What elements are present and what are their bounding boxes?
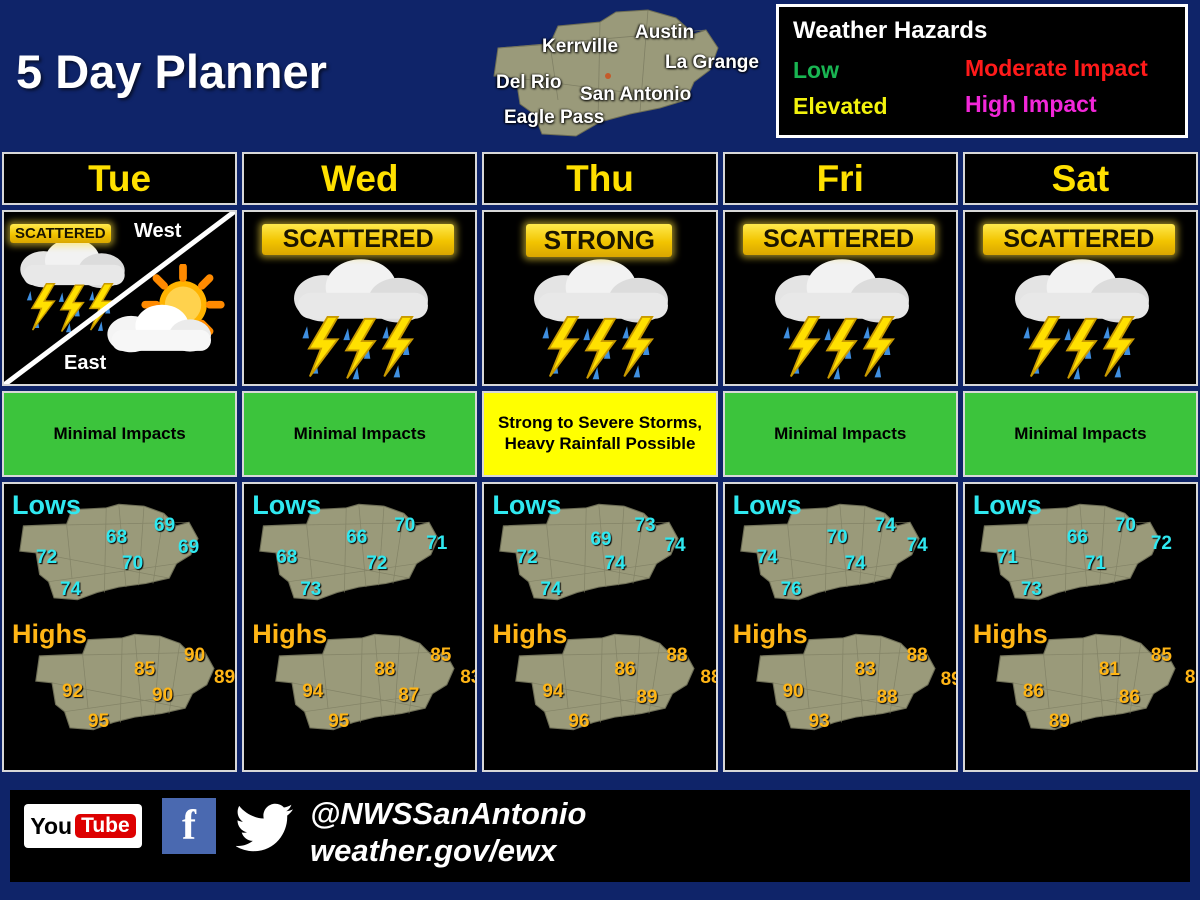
high-temp-value: 85 xyxy=(134,660,155,679)
low-temp-value: 73 xyxy=(634,516,655,535)
temperature-cell-sat: Lows Highs 716670727173 868185868689 xyxy=(963,482,1198,772)
forecast-column-wed: Wed SCATTEREDMinimal Impacts xyxy=(242,152,477,772)
header-region-map: Austin Kerrville La Grange Del Rio San A… xyxy=(480,4,760,144)
facebook-f-glyph: f xyxy=(182,805,196,847)
low-temp-value: 74 xyxy=(875,516,896,535)
low-temp-value: 72 xyxy=(36,548,57,567)
high-temp-value: 95 xyxy=(328,712,349,731)
thunderstorm-art xyxy=(508,246,694,386)
high-temp-value: 85 xyxy=(430,646,451,665)
high-temp-value: 90 xyxy=(783,682,804,701)
weather-icon-cell-fri: SCATTERED xyxy=(723,210,958,386)
high-temp-value: 87 xyxy=(398,686,419,705)
low-temp-value: 68 xyxy=(106,528,127,547)
condition-banner: SCATTERED xyxy=(743,224,935,255)
high-temp-value: 89 xyxy=(636,688,657,707)
west-condition-banner: SCATTERED xyxy=(10,224,111,243)
impact-text: Minimal Impacts xyxy=(1014,424,1146,445)
impact-text: Minimal Impacts xyxy=(294,424,426,445)
high-temp-value: 81 xyxy=(1099,660,1120,679)
high-temp-value: 89 xyxy=(214,668,235,687)
low-temp-value: 76 xyxy=(781,580,802,599)
high-temp-value: 89 xyxy=(1049,712,1070,731)
low-temp-value: 74 xyxy=(540,580,561,599)
weather-icon-cell-tue: SCATTERED West East xyxy=(2,210,237,386)
high-temp-value: 88 xyxy=(907,646,928,665)
day-name-label: Fri xyxy=(817,160,864,197)
lows-values-layer: 686670717273 xyxy=(258,502,458,612)
weather-icon-cell-wed: SCATTERED xyxy=(242,210,477,386)
condition-banner: STRONG xyxy=(526,224,672,257)
high-temp-value: 93 xyxy=(809,712,830,731)
high-temp-value: 94 xyxy=(542,682,563,701)
east-partly-sunny-art xyxy=(92,264,232,377)
city-label-eagle-pass: Eagle Pass xyxy=(504,107,604,129)
low-temp-value: 73 xyxy=(300,580,321,599)
day-header-sat: Sat xyxy=(963,152,1198,205)
twitter-bird-icon[interactable] xyxy=(236,802,294,852)
forecast-column-fri: Fri SCATTEREDMinimal Impacts xyxy=(723,152,958,772)
high-temp-value: 90 xyxy=(184,646,205,665)
high-temp-value: 96 xyxy=(568,712,589,731)
city-label-austin: Austin xyxy=(635,22,694,44)
impact-text: Strong to Severe Storms, Heavy Rainfall … xyxy=(490,413,709,454)
youtube-you-text: You xyxy=(30,815,72,838)
high-temp-value: 86 xyxy=(1119,688,1140,707)
forecast-column-thu: Thu STRONGStrong to Severe Storms, Heavy… xyxy=(482,152,717,772)
city-label-kerrville: Kerrville xyxy=(542,36,618,58)
low-temp-value: 71 xyxy=(997,548,1018,567)
low-temp-value: 69 xyxy=(590,530,611,549)
high-temp-value: 89 xyxy=(941,670,958,689)
east-label: East xyxy=(64,352,106,375)
low-temp-value: 71 xyxy=(426,534,447,553)
low-temp-value: 73 xyxy=(1021,580,1042,599)
high-temp-value: 94 xyxy=(302,682,323,701)
west-label: West xyxy=(134,220,181,243)
five-day-forecast-grid: Tue SCATTERED xyxy=(0,152,1200,772)
low-temp-value: 70 xyxy=(122,554,143,573)
social-handle-block: @NWSSanAntonio weather.gov/ewx xyxy=(310,796,586,869)
low-temp-value: 74 xyxy=(664,536,685,555)
partly-sunny-icon xyxy=(92,264,232,372)
day-header-wed: Wed xyxy=(242,152,477,205)
impact-cell-thu: Strong to Severe Storms, Heavy Rainfall … xyxy=(482,391,717,477)
low-temp-value: 74 xyxy=(757,548,778,567)
website-url: weather.gov/ewx xyxy=(310,833,586,870)
day-header-thu: Thu xyxy=(482,152,717,205)
high-temp-value: 88 xyxy=(877,688,898,707)
hazard-level-moderate-impact: Moderate Impact xyxy=(965,55,1148,82)
low-temp-value: 70 xyxy=(1115,516,1136,535)
impact-cell-tue: Minimal Impacts xyxy=(2,391,237,477)
temperature-cell-tue: Lows Highs 726869697074 928590899095 xyxy=(2,482,237,772)
impact-cell-sat: Minimal Impacts xyxy=(963,391,1198,477)
low-temp-value: 74 xyxy=(604,554,625,573)
low-temp-value: 74 xyxy=(907,536,928,555)
low-temp-value: 74 xyxy=(845,554,866,573)
temperature-cell-thu: Lows Highs 726973747474 948688888996 xyxy=(482,482,717,772)
youtube-icon[interactable]: You Tube xyxy=(24,804,142,848)
lows-values-layer: 726973747474 xyxy=(498,502,698,612)
temperature-cell-wed: Lows Highs 686670717273 948885838795 xyxy=(242,482,477,772)
hazard-level-elevated: Elevated xyxy=(793,93,888,120)
hazards-legend-title: Weather Hazards xyxy=(793,17,987,45)
low-temp-value: 68 xyxy=(276,548,297,567)
high-temp-value: 95 xyxy=(88,712,109,731)
high-temp-value: 86 xyxy=(614,660,635,679)
low-temp-value: 69 xyxy=(154,516,175,535)
high-temp-value: 92 xyxy=(62,682,83,701)
low-temp-value: 69 xyxy=(178,538,199,557)
low-temp-value: 72 xyxy=(516,548,537,567)
twitter-handle: @NWSSanAntonio xyxy=(310,796,586,833)
weather-hazards-legend: Weather Hazards Low Moderate Impact Elev… xyxy=(776,4,1188,138)
highs-values-layer: 908388898893 xyxy=(755,632,955,742)
day-header-fri: Fri xyxy=(723,152,958,205)
thunderstorm-icon xyxy=(508,246,694,386)
footer-banner: You Tube f @NWSSanAntonio weather.gov/ew… xyxy=(0,772,1200,900)
condition-banner: SCATTERED xyxy=(983,224,1175,255)
high-temp-value: 88 xyxy=(666,646,687,665)
twitter-bird-glyph xyxy=(236,802,294,852)
thunderstorm-icon xyxy=(989,246,1175,386)
highs-values-layer: 948885838795 xyxy=(274,632,474,742)
weather-icon-cell-thu: STRONG xyxy=(482,210,717,386)
low-temp-value: 66 xyxy=(1067,528,1088,547)
impact-text: Minimal Impacts xyxy=(53,424,185,445)
hazard-level-low: Low xyxy=(793,57,839,84)
condition-banner: SCATTERED xyxy=(262,224,454,255)
facebook-icon[interactable]: f xyxy=(162,798,216,854)
temperature-cell-fri: Lows Highs 747074747476 908388898893 xyxy=(723,482,958,772)
high-temp-value: 86 xyxy=(1185,668,1198,687)
thunderstorm-art xyxy=(268,246,454,386)
city-label-san-antonio: San Antonio xyxy=(580,84,691,106)
day-name-label: Tue xyxy=(88,160,151,197)
highs-values-layer: 868185868689 xyxy=(995,632,1195,742)
low-temp-value: 66 xyxy=(346,528,367,547)
high-temp-value: 88 xyxy=(700,668,717,687)
city-label-del-rio: Del Rio xyxy=(496,72,561,94)
low-temp-value: 74 xyxy=(60,580,81,599)
social-media-bar: You Tube f @NWSSanAntonio weather.gov/ew… xyxy=(10,790,1190,882)
impact-cell-fri: Minimal Impacts xyxy=(723,391,958,477)
thunderstorm-art xyxy=(989,246,1175,386)
day-name-label: Wed xyxy=(321,160,398,197)
low-temp-value: 72 xyxy=(1151,534,1172,553)
forecast-column-sat: Sat SCATTEREDMinimal Impacts xyxy=(963,152,1198,772)
highs-values-layer: 948688888996 xyxy=(514,632,714,742)
high-temp-value: 86 xyxy=(1023,682,1044,701)
thunderstorm-art xyxy=(749,246,935,386)
youtube-tube-text: Tube xyxy=(75,814,136,838)
highs-values-layer: 928590899095 xyxy=(34,632,234,742)
weather-icon-cell-sat: SCATTERED xyxy=(963,210,1198,386)
high-temp-value: 88 xyxy=(374,660,395,679)
low-temp-value: 72 xyxy=(366,554,387,573)
lows-values-layer: 747074747476 xyxy=(739,502,939,612)
page-title: 5 Day Planner xyxy=(16,44,327,99)
high-temp-value: 85 xyxy=(1151,646,1172,665)
high-temp-value: 83 xyxy=(460,668,477,687)
thunderstorm-icon xyxy=(749,246,935,386)
thunderstorm-icon xyxy=(268,246,454,386)
day-header-tue: Tue xyxy=(2,152,237,205)
hazard-level-high-impact: High Impact xyxy=(965,91,1097,118)
high-temp-value: 90 xyxy=(152,686,173,705)
city-label-la-grange: La Grange xyxy=(665,52,759,74)
day-name-label: Sat xyxy=(1052,160,1110,197)
header-banner: 5 Day Planner Austin Kerrville La Grange… xyxy=(0,0,1200,148)
low-temp-value: 71 xyxy=(1085,554,1106,573)
low-temp-value: 70 xyxy=(827,528,848,547)
lows-values-layer: 716670727173 xyxy=(979,502,1179,612)
impact-cell-wed: Minimal Impacts xyxy=(242,391,477,477)
high-temp-value: 83 xyxy=(855,660,876,679)
lows-values-layer: 726869697074 xyxy=(18,502,218,612)
forecast-column-tue: Tue SCATTERED xyxy=(2,152,237,772)
impact-text: Minimal Impacts xyxy=(774,424,906,445)
low-temp-value: 70 xyxy=(394,516,415,535)
day-name-label: Thu xyxy=(566,160,634,197)
